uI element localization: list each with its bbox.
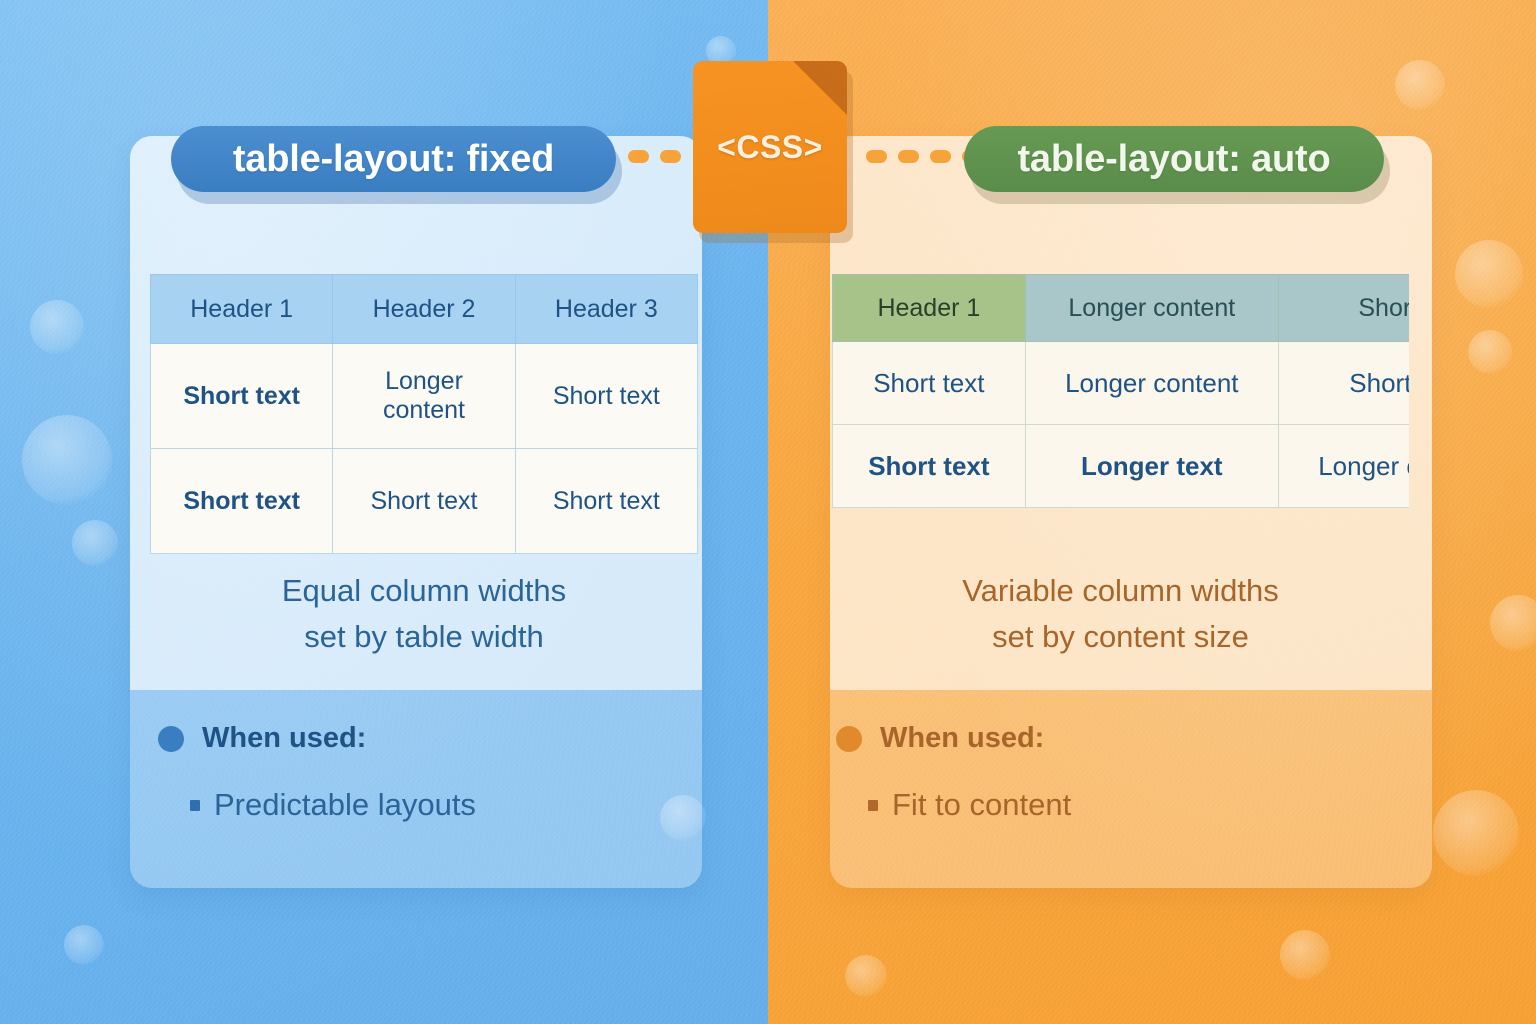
fixed-when-used-heading: When used: (158, 722, 476, 755)
dash-segment (866, 150, 887, 163)
auto-caption: Variable column widths set by content si… (832, 568, 1409, 660)
auto-when-used-block: When used: Fit to content (836, 722, 1071, 823)
dash-segment (628, 150, 649, 163)
table-row: Short text Longer content Short text (833, 342, 1410, 425)
fixed-table-container: Header 1 Header 2 Header 3 Short text Lo… (150, 274, 698, 554)
table-cell: Longer content (1025, 342, 1278, 425)
table-header-cell: Header 2 (333, 275, 515, 344)
connector-dashes-left (628, 148, 681, 164)
bullet-square-icon (868, 800, 878, 811)
table-cell: Longer content (333, 344, 515, 449)
bullet-square-icon (190, 800, 200, 811)
table-cell: Short text (515, 344, 697, 449)
pill-auto-label: table-layout: auto (1017, 138, 1330, 181)
table-cell: Short text (515, 449, 697, 554)
dash-segment (930, 150, 951, 163)
table-header-row: Header 1 Header 2 Header 3 (151, 275, 698, 344)
auto-table-container: Header 1 Longer content Short alt Short … (832, 274, 1409, 508)
table-row: Short text Longer content Short text (151, 344, 698, 449)
table-cell: Short text (1278, 342, 1409, 425)
auto-when-used-item-label: Fit to content (892, 787, 1071, 823)
table-cell: Short text (151, 449, 333, 554)
fixed-caption-line-2: set by table width (150, 614, 698, 660)
fixed-when-used-label: When used: (202, 722, 366, 755)
pill-table-layout-auto[interactable]: table-layout: auto (964, 126, 1384, 192)
table-cell: Longer text (1025, 425, 1278, 508)
fixed-layout-table: Header 1 Header 2 Header 3 Short text Lo… (150, 274, 698, 554)
bullet-circle-icon (836, 726, 862, 752)
auto-caption-line-2: set by content size (832, 614, 1409, 660)
table-cell: Longer content (1278, 425, 1409, 508)
table-cell: Short text (333, 449, 515, 554)
table-cell: Short text (833, 342, 1026, 425)
fixed-when-used-block: When used: Predictable layouts (158, 722, 476, 823)
infographic-stage: table-layout: fixed Header 1 Header 2 He… (0, 0, 1536, 1024)
auto-layout-table: Header 1 Longer content Short alt Short … (832, 274, 1409, 508)
dash-segment (660, 150, 681, 163)
list-item: Fit to content (836, 787, 1071, 823)
pill-table-layout-fixed[interactable]: table-layout: fixed (171, 126, 616, 192)
table-header-cell: Header 3 (515, 275, 697, 344)
table-header-cell: Header 1 (151, 275, 333, 344)
fixed-caption: Equal column widths set by table width (150, 568, 698, 660)
css-file-icon[interactable]: <CSS> (693, 61, 847, 233)
table-header-cell: Longer content (1025, 275, 1278, 342)
bullet-circle-icon (158, 726, 184, 752)
table-cell: Short text (833, 425, 1026, 508)
table-header-cell: Header 1 (833, 275, 1026, 342)
pill-fixed-label: table-layout: fixed (233, 138, 554, 181)
css-file-label: <CSS> (693, 61, 847, 233)
auto-when-used-heading: When used: (836, 722, 1071, 755)
table-header-row: Header 1 Longer content Short alt (833, 275, 1410, 342)
fixed-caption-line-1: Equal column widths (150, 568, 698, 614)
fixed-when-used-item-label: Predictable layouts (214, 787, 476, 823)
table-row: Short text Longer text Longer content (833, 425, 1410, 508)
table-row: Short text Short text Short text (151, 449, 698, 554)
auto-caption-line-1: Variable column widths (832, 568, 1409, 614)
auto-when-used-label: When used: (880, 722, 1044, 755)
table-header-cell: Short alt (1278, 275, 1409, 342)
table-cell: Short text (151, 344, 333, 449)
dash-segment (898, 150, 919, 163)
list-item: Predictable layouts (158, 787, 476, 823)
